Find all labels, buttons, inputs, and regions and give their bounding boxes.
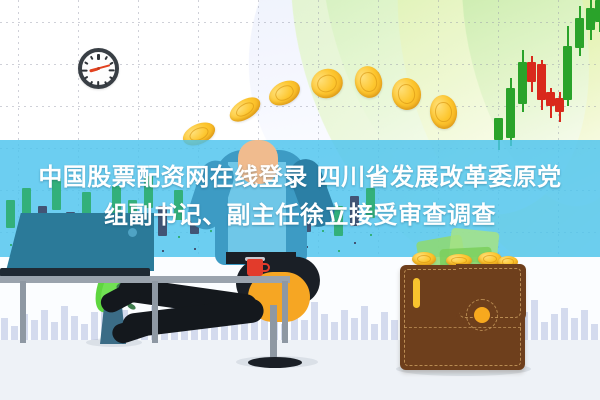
- headline-line-2: 组副书记、副主任徐立接受审查调查: [0, 196, 600, 234]
- wallet-seam: [404, 327, 521, 328]
- wallet-card-tab: [413, 278, 420, 308]
- wallet-button: [474, 307, 490, 323]
- headline: 中国股票配资网在线登录 四川省发展改革委原党 组副书记、副主任徐立接受审查调查: [0, 158, 600, 234]
- headline-line-1: 中国股票配资网在线登录 四川省发展改革委原党: [38, 163, 561, 191]
- cover-image: 中国股票配资网在线登录 四川省发展改革委原党 组副书记、副主任徐立接受审查调查: [0, 0, 600, 400]
- leather-wallet: [400, 265, 525, 370]
- wallet-gold-coin: [412, 252, 436, 266]
